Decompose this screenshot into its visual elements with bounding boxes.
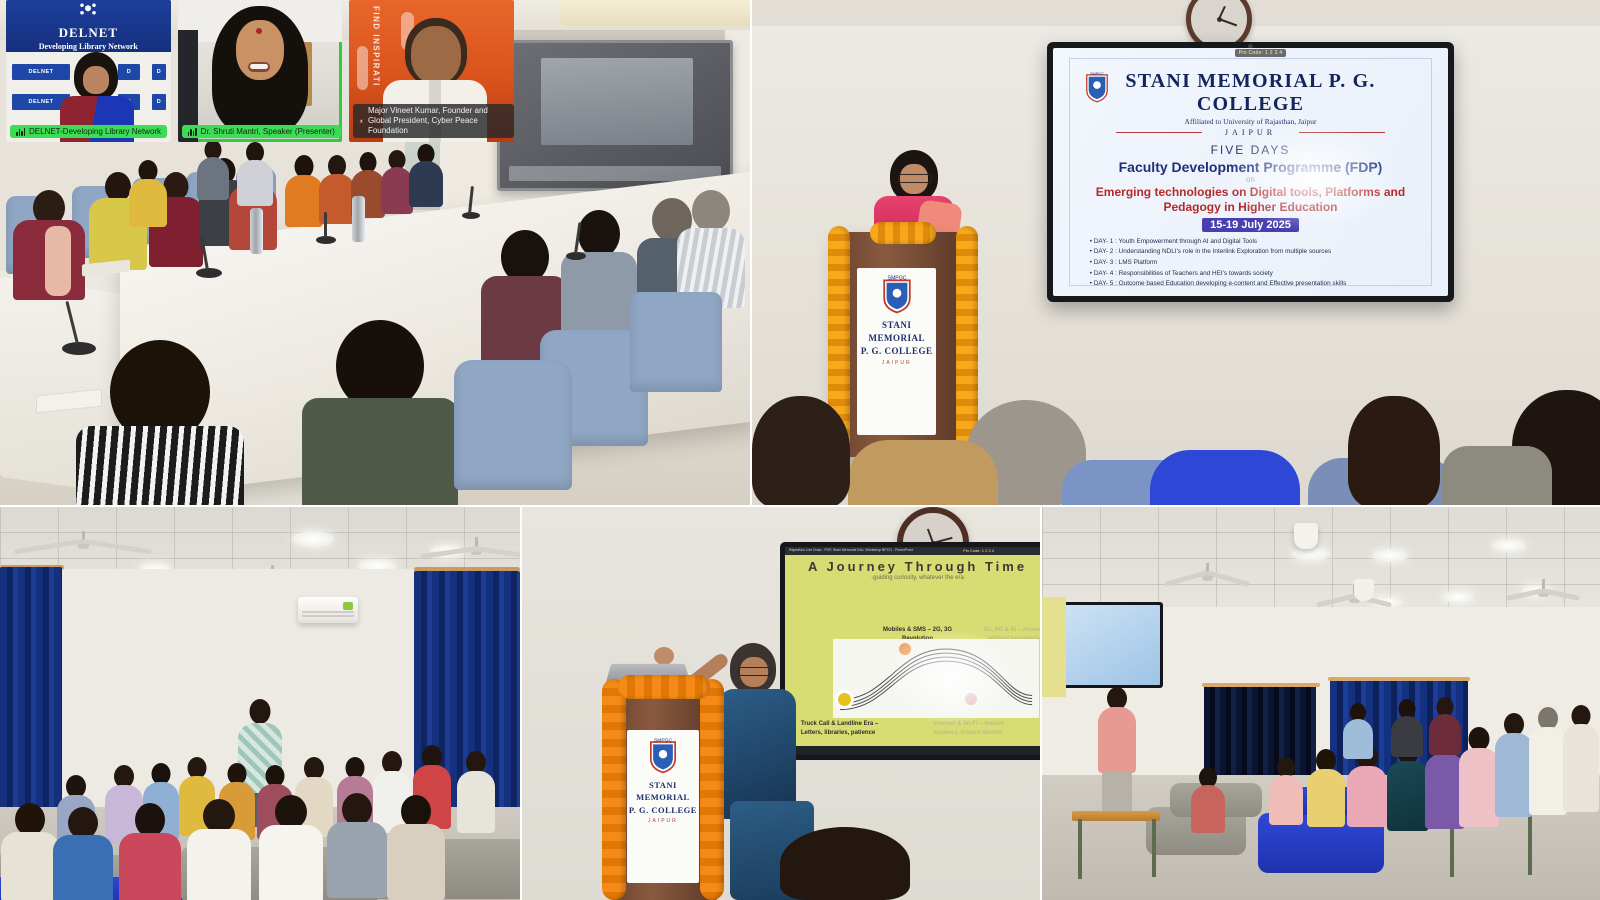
seated-person (386, 795, 446, 899)
bench (1072, 811, 1160, 821)
participant-name-label: Major Vineet Kumar, Founder and Global P… (353, 104, 514, 138)
delnet-banner: DELNET Developing Library Network king L… (6, 0, 171, 52)
photo-panel-journey-through-time: Rajasthan Live Draw - FDP, Stani Memoria… (522, 507, 1040, 900)
audience-head (848, 440, 998, 505)
svg-text:SMPGC: SMPGC (654, 737, 673, 743)
college-crest-icon: SMPGC (880, 274, 914, 314)
photo-panel-podium-fdp: Pin Code: 1 2 3 4 SMPGC STANI MEMORIAL P… (752, 0, 1600, 505)
delnet-subtitle: Developing Library Network (6, 42, 171, 51)
screen-content (541, 58, 693, 145)
ceiling-light-strip (560, 0, 750, 26)
window-curtain (0, 567, 62, 827)
pin-code-badge: Pin Code: 1 2 3 4 (963, 548, 994, 553)
pendant-light (1294, 523, 1318, 549)
chair (630, 292, 722, 392)
delnet-title: DELNET (6, 25, 171, 41)
backdrop-text: FIND INSPIRATI (371, 6, 380, 87)
podium: SMPGC STANI MEMORIAL P. G. COLLEGE JAIPU… (834, 232, 962, 457)
audience-head (1150, 450, 1300, 505)
fdp-title-slide: Pin Code: 1 2 3 4 SMPGC STANI MEMORIAL P… (1053, 48, 1448, 296)
svg-text:SMPGC: SMPGC (887, 276, 906, 282)
water-bottle (352, 196, 365, 242)
participant-name-text: Major Vineet Kumar, Founder and Global P… (368, 106, 508, 136)
svg-text:SMPGC: SMPGC (1090, 72, 1104, 76)
audience-head (752, 396, 850, 505)
day-item: DAY- 2 : Understanding NDLI's role in th… (1090, 247, 1425, 258)
seated-person (186, 799, 252, 900)
college-crest-icon: SMPGC (647, 736, 679, 774)
eyeglasses-icon (898, 174, 932, 183)
participant-video-figure (204, 6, 316, 142)
podium-line-2: MEMORIAL (636, 792, 690, 802)
day-item: DAY- 4 : Responsibilities of Teachers an… (1090, 269, 1425, 280)
marigold-garland (618, 675, 710, 699)
seated-person (1190, 767, 1226, 833)
video-tile-shruti-mantri[interactable]: Dr. Shruti Mantri, Speaker (Presenter) (178, 0, 343, 142)
participant-name-label: DELNET-Developing Library Network (10, 125, 167, 138)
photo-panel-seminar-hall-wide (0, 507, 520, 900)
seated-person (1428, 697, 1462, 755)
backdrop-chip: D (152, 94, 166, 110)
video-tile-vineet-kumar[interactable]: FIND INSPIRATI Major Vineet Kumar, Found… (349, 0, 514, 142)
seated-person (12, 190, 86, 300)
day-item: DAY- 3 : LMS Platform (1090, 258, 1425, 269)
audience-head (780, 827, 910, 900)
podium-name-plate: SMPGC STANI MEMORIAL P. G. COLLEGE JAIPU… (627, 730, 698, 883)
podium-line-3: P. G. COLLEGE (861, 346, 933, 356)
screen-glare (886, 630, 1016, 725)
seated-person (0, 803, 60, 900)
college-affiliation: Affiliated to University of Rajasthan, J… (1076, 117, 1425, 126)
down-light (1442, 591, 1474, 603)
backdrop-chip: D (152, 64, 166, 80)
seated-person (118, 803, 182, 900)
college-city: JAIPUR (1076, 128, 1425, 137)
air-conditioner-icon (298, 597, 358, 623)
backdrop-accent (357, 46, 368, 90)
ceiling-fan-icon (1512, 579, 1574, 597)
day-schedule-list: DAY- 1 : Youth Empowerment through AI an… (1090, 237, 1425, 290)
seated-person-back (676, 190, 746, 306)
seated-person (1268, 757, 1304, 825)
podium-city: JAIPUR (627, 818, 698, 824)
seated-person (52, 807, 114, 900)
seated-person-back (76, 340, 244, 505)
participant-name-text: Dr. Shruti Mantri, Speaker (Presenter) (201, 127, 335, 136)
display-screen: Pin Code: 1 2 3 4 SMPGC STANI MEMORIAL P… (1047, 42, 1454, 302)
podium-name-plate: SMPGC STANI MEMORIAL P. G. COLLEGE JAIPU… (857, 268, 936, 435)
water-bottle (250, 208, 263, 254)
seated-person (196, 140, 230, 198)
microphone-base (196, 268, 222, 278)
timeline-dot (838, 693, 851, 706)
microphone-icon (188, 128, 197, 136)
down-light (292, 531, 334, 547)
ceiling (752, 0, 1600, 26)
seated-person (128, 160, 168, 226)
screen-mount (490, 30, 725, 40)
eyeglasses-icon (738, 667, 772, 676)
seated-person (1390, 699, 1424, 757)
college-crest-icon: SMPGC (1084, 71, 1110, 103)
presenter-standing (1097, 687, 1137, 819)
ac-vent (302, 611, 354, 619)
podium-city: JAIPUR (857, 360, 936, 366)
ceiling-fan-icon (1170, 563, 1244, 583)
slide-subtitle: -guiding curiosity, whatever the era (785, 575, 1040, 581)
pendant-light (1354, 579, 1374, 601)
audience-head (1442, 446, 1552, 505)
seated-person (1562, 705, 1600, 813)
mic-muted-icon (359, 117, 364, 126)
down-light (1492, 539, 1526, 552)
seated-person (326, 793, 388, 897)
seated-person (258, 795, 324, 900)
slide-edge-bleed (1042, 597, 1066, 697)
screen-content (1050, 605, 1160, 685)
participant-name-text: DELNET-Developing Library Network (29, 127, 161, 136)
bench-leg (1152, 819, 1156, 877)
seated-person (236, 142, 274, 204)
seated-person (1306, 749, 1346, 827)
pin-code-badge: Pin Code: 1 2 3 4 (1235, 49, 1287, 57)
photo-collage: Pin Code: 1 2 3 4 SMPGC STANI MEMORIAL P… (0, 0, 1600, 900)
day-item: DAY- 1 : Youth Empowerment through AI an… (1090, 237, 1425, 248)
down-light (1372, 549, 1408, 562)
bench-leg (1528, 813, 1532, 875)
participant-name-label: Dr. Shruti Mantri, Speaker (Presenter) (182, 125, 341, 138)
seated-person (1342, 703, 1374, 759)
screen-glare (1227, 122, 1397, 232)
ceiling-fan-icon (428, 537, 520, 561)
bench-leg (1078, 819, 1082, 879)
microphone-base (62, 342, 96, 355)
marigold-garland (602, 679, 626, 900)
seated-person (456, 751, 496, 835)
slide-title: A Journey Through Time (785, 559, 1040, 574)
college-name: STANI MEMORIAL P. G. COLLEGE (1076, 70, 1425, 116)
video-conference-strip: DELNET Developing Library Network king L… (6, 0, 514, 142)
window-title: Rajasthan Live Draw - FDP, Stani Memoria… (789, 548, 913, 552)
day-item: DAY- 5 : Outcome based Education develop… (1090, 279, 1425, 290)
podium-line-2: MEMORIAL (868, 333, 925, 343)
marigold-garland (870, 222, 936, 244)
photo-panel-hall-blue-sofas (1042, 507, 1600, 900)
seated-person-back (560, 210, 638, 340)
podium-line-3: P. G. COLLEGE (629, 805, 697, 815)
chair (454, 360, 572, 490)
delnet-logo-icon (79, 2, 97, 16)
seated-person (408, 144, 444, 206)
bindi-icon (256, 28, 262, 34)
ac-indicator (343, 602, 353, 610)
audience-head (1348, 396, 1440, 505)
down-light (1292, 547, 1330, 561)
seated-person-back (300, 320, 460, 505)
presentation-title-bar: Rajasthan Live Draw - FDP, Stani Memoria… (785, 547, 1040, 555)
podium-line-1: STANI (882, 320, 911, 330)
podium-line-1: STANI (649, 780, 677, 790)
microphone-icon (324, 212, 327, 238)
projection-screen (497, 40, 733, 191)
marigold-garland (700, 679, 724, 900)
video-tile-delnet[interactable]: DELNET Developing Library Network king L… (6, 0, 171, 142)
ceiling-fan-icon (28, 531, 138, 557)
microphone-icon (16, 128, 25, 136)
